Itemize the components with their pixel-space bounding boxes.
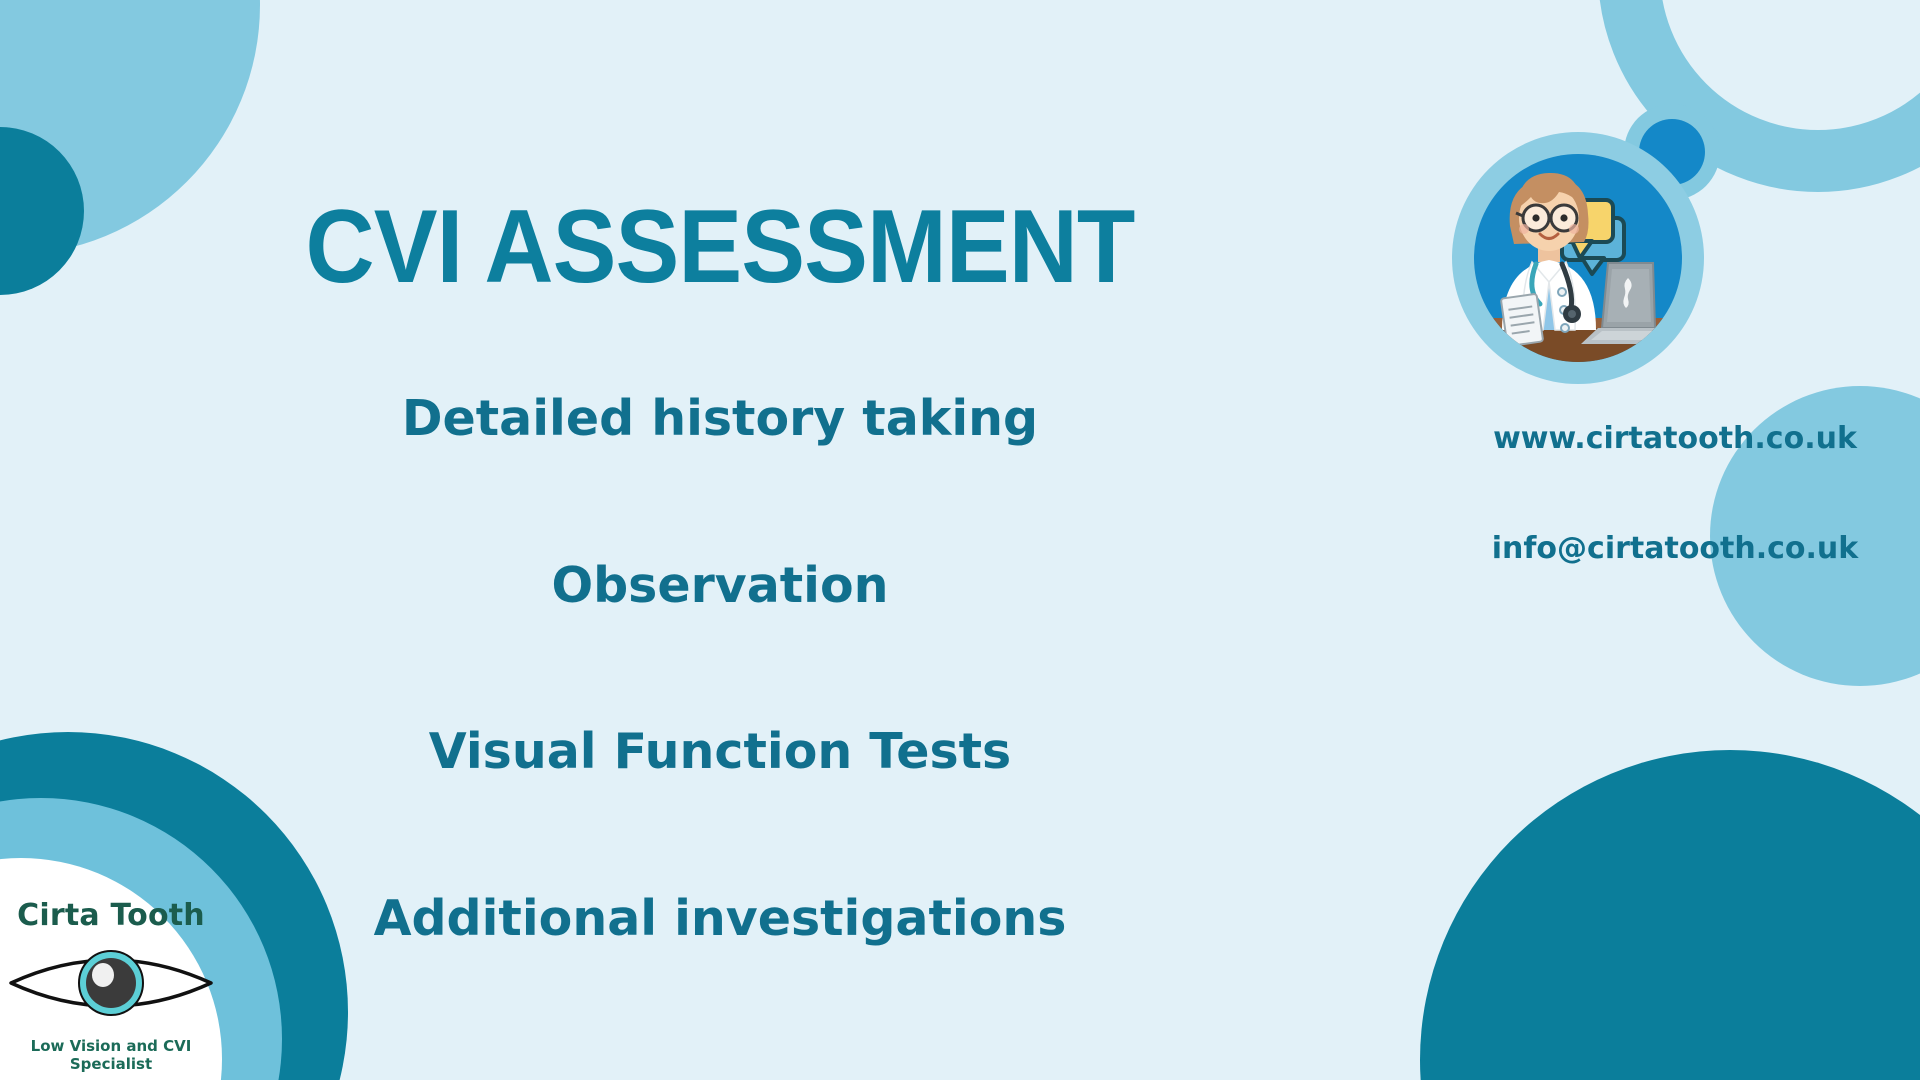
slide-canvas: CVI ASSESSMENT Detailed history taking O… — [0, 0, 1920, 1080]
page-title: CVI ASSESSMENT — [58, 188, 1383, 307]
brand-tagline-line1: Low Vision and CVI — [0, 1037, 222, 1056]
bullet-item-visual-function-tests: Visual Function Tests — [0, 723, 1440, 780]
brand-logo: Cirta Tooth Low Vision and CVI Specialis… — [0, 901, 222, 1075]
website-text[interactable]: www.cirtatooth.co.uk — [1440, 421, 1910, 456]
eye-icon — [6, 939, 216, 1027]
bullet-item-detailed-history-taking: Detailed history taking — [0, 390, 1440, 447]
doctor-at-laptop-icon — [1450, 130, 1706, 386]
brand-name: Cirta Tooth — [0, 901, 222, 931]
brand-tagline: Low Vision and CVI Specialist — [0, 1037, 222, 1075]
brand-tagline-line2: Specialist — [0, 1055, 222, 1074]
bullet-item-observation: Observation — [0, 557, 1440, 614]
email-text[interactable]: info@cirtatooth.co.uk — [1440, 531, 1910, 566]
right-column: www.cirtatooth.co.uk info@cirtatooth.co.… — [1440, 0, 1920, 1080]
